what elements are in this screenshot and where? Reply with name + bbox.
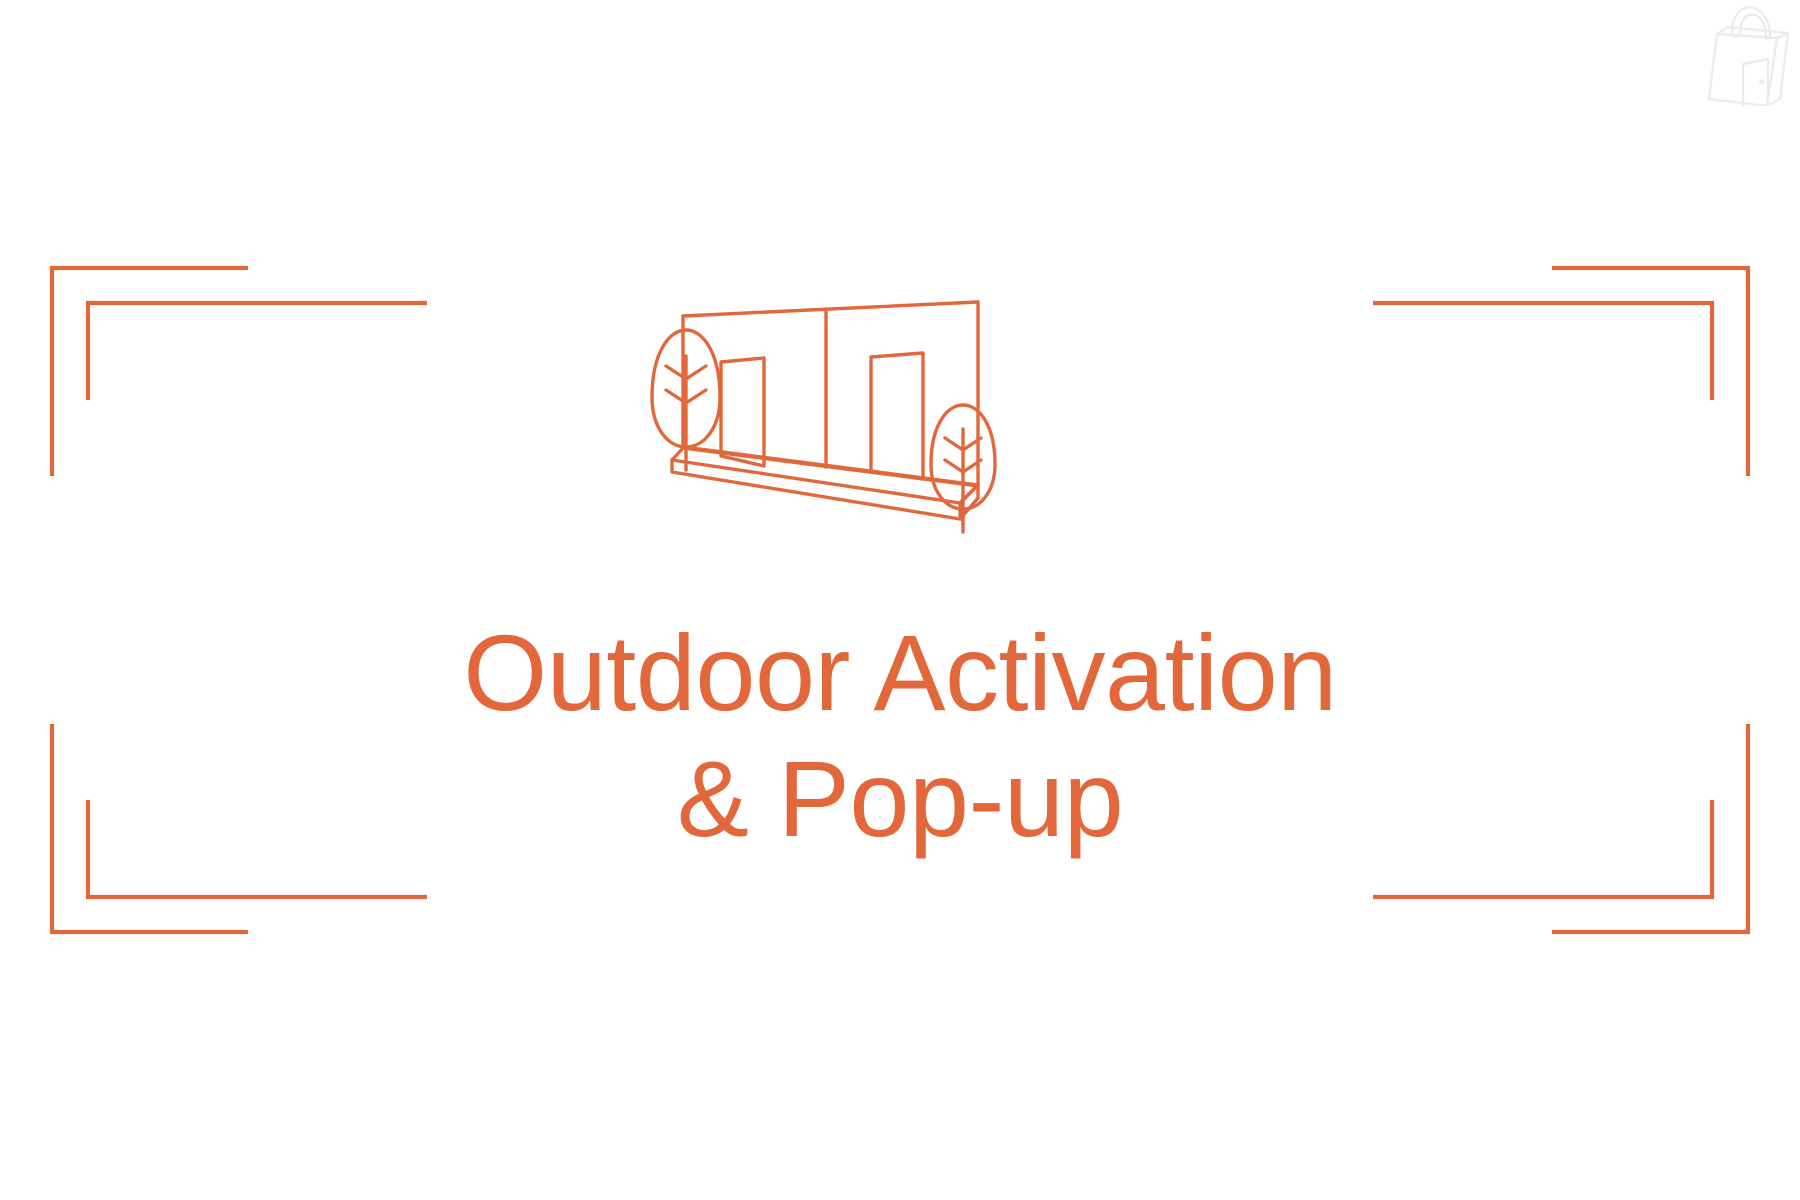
bracket-top-right-inner — [1373, 303, 1712, 400]
title-line-2: & Pop-up — [0, 736, 1800, 862]
bracket-top-left-outer — [52, 268, 248, 476]
shopping-bag-watermark — [1698, 2, 1794, 106]
page-title: Outdoor Activation & Pop-up — [0, 610, 1800, 863]
doorway-right — [871, 353, 923, 479]
tree-right — [931, 405, 995, 532]
outdoor-storefront-illustration — [640, 300, 1160, 560]
bracket-top-right-outer — [1552, 268, 1748, 476]
slide-canvas: Outdoor Activation & Pop-up — [0, 0, 1800, 1200]
corner-bracket-frame — [0, 0, 1800, 1200]
doorway-left — [721, 358, 764, 466]
title-line-1: Outdoor Activation — [0, 610, 1800, 736]
bracket-top-left-inner — [88, 303, 427, 400]
sidewalk-front-edge — [672, 460, 960, 519]
